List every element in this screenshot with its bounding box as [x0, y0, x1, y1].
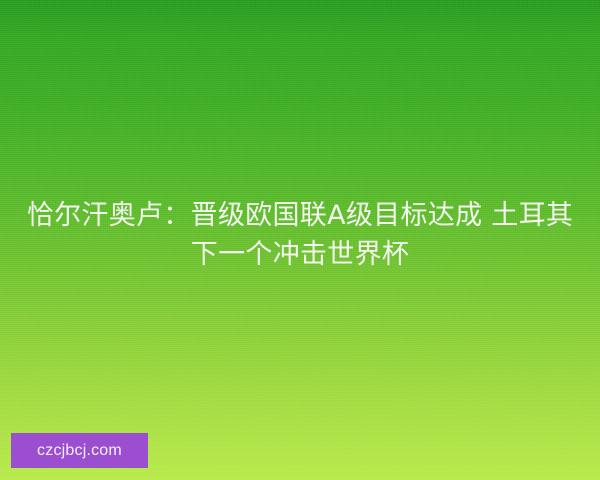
- title-block: 恰尔汗奥卢：晋级欧国联A级目标达成 土耳其下一个冲击世界杯: [0, 196, 600, 274]
- page-title: 恰尔汗奥卢：晋级欧国联A级目标达成 土耳其下一个冲击世界杯: [24, 196, 576, 274]
- watermark-badge: czcjbcj.com: [11, 433, 148, 468]
- watermark-label: czcjbcj.com: [37, 443, 122, 459]
- poster-canvas: 恰尔汗奥卢：晋级欧国联A级目标达成 土耳其下一个冲击世界杯 czcjbcj.co…: [0, 0, 600, 480]
